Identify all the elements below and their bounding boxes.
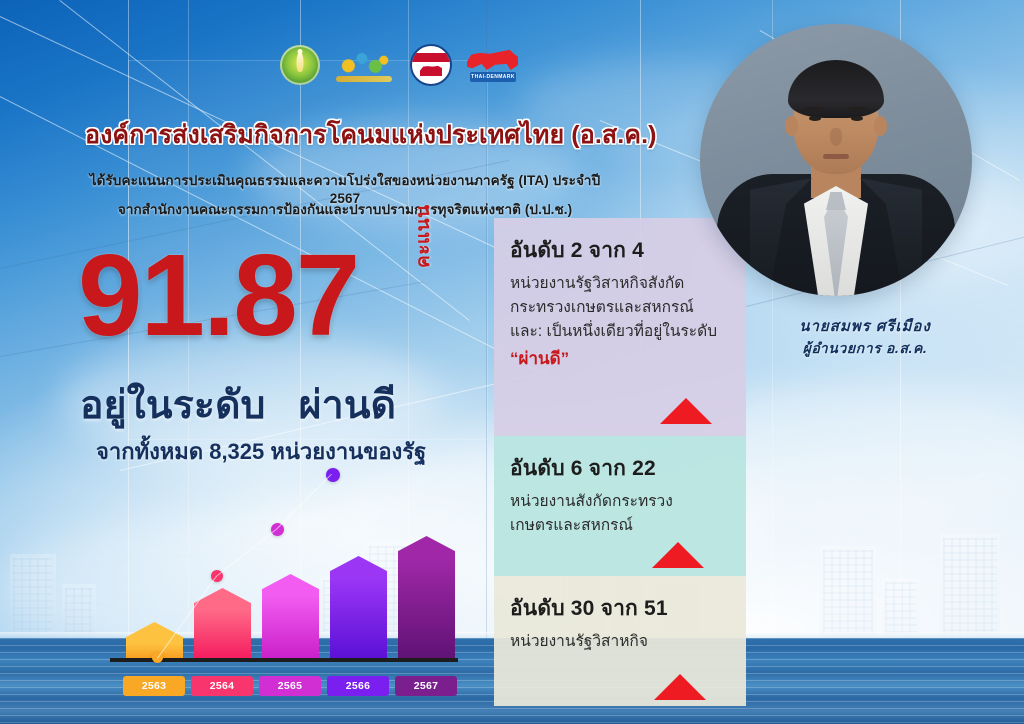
rank-card-list: อันดับ 2 จาก 4 หน่วยงานรัฐวิสาหกิจสังกัด… — [494, 218, 746, 706]
growth-bar-chart: 25632564256525662567 — [120, 466, 480, 706]
rank-card-all-state-enterprises[interactable]: อันดับ 30 จาก 51 หน่วยงานรัฐวิสาหกิจ — [494, 576, 746, 706]
logo-row: THAI-DENMARK — [280, 44, 518, 86]
infographic-canvas: THAI-DENMARK องค์การส่งเสริมกิจการโคนมแห… — [0, 0, 1024, 724]
page-title: องค์การส่งเสริมกิจการโคนมแห่งประเทศไทย (… — [85, 122, 665, 150]
red-up-triangle-icon — [660, 398, 712, 424]
chart-bar-body — [194, 610, 251, 660]
dpo-seal-icon — [410, 44, 452, 86]
chart-bar-body — [398, 558, 455, 660]
rank-card-quote: “ผ่านดี” — [510, 345, 732, 372]
rank-card-emphasis-text: เป็นหนึ่งเดียวที่อยู่ในระดับ — [546, 323, 717, 340]
level-prefix: อยู่ในระดับ — [80, 384, 266, 427]
chart-bars — [120, 464, 480, 660]
chart-year-labels: 25632564256525662567 — [120, 674, 480, 696]
trend-dot — [271, 523, 284, 536]
rank-card-emphasis-prefix: และ: — [510, 323, 542, 340]
rank-card-state-enterprise-moac[interactable]: อันดับ 2 จาก 4 หน่วยงานรัฐวิสาหกิจสังกัด… — [494, 218, 746, 436]
rank-card-heading: อันดับ 30 จาก 51 — [510, 592, 732, 625]
level-value: ผ่านดี — [299, 384, 397, 427]
chart-bar-body — [262, 596, 319, 660]
rank-card-heading: อันดับ 6 จาก 22 — [510, 452, 732, 485]
rank-card-line: เกษตรและสหกรณ์ — [510, 514, 732, 538]
chart-year-label: 2563 — [123, 676, 185, 696]
rank-card-line: หน่วยงานรัฐวิสาหกิจ — [510, 630, 732, 654]
director-portrait-avatar — [700, 24, 972, 296]
portrait-caption: นายสมพร ศรีเมือง ผู้อำนวยการ อ.ส.ค. — [760, 316, 970, 358]
chart-year-label: 2564 — [191, 676, 253, 696]
level-line: อยู่ในระดับ ผ่านดี — [80, 374, 500, 436]
rank-card-line: กระทรวงเกษตรและสหกรณ์ — [510, 296, 732, 320]
ministry-of-agriculture-emblem-icon — [280, 45, 320, 85]
rank-card-heading: อันดับ 2 จาก 4 — [510, 234, 732, 267]
rank-card-moac-agencies[interactable]: อันดับ 6 จาก 22 หน่วยงานสังกัดกระทรวง เก… — [494, 436, 746, 576]
chart-year-label: 2565 — [259, 676, 321, 696]
chart-bar-body — [330, 578, 387, 660]
chart-bar — [398, 536, 455, 660]
rank-card-line: หน่วยงานรัฐวิสาหกิจสังกัด — [510, 272, 732, 296]
rank-card-line: หน่วยงานสังกัดกระทรวง — [510, 490, 732, 514]
red-up-triangle-icon — [654, 674, 706, 700]
chart-bar — [262, 574, 319, 660]
chart-year-label: 2566 — [327, 676, 389, 696]
red-up-triangle-icon — [652, 542, 704, 568]
chart-bar — [330, 556, 387, 660]
person-name: นายสมพร ศรีเมือง — [760, 316, 970, 338]
rank-card-emphasis-row: และ: เป็นหนึ่งเดียวที่อยู่ในระดับ — [510, 320, 732, 344]
chart-year-label: 2567 — [395, 676, 457, 696]
person-position: ผู้อำนวยการ อ.ส.ค. — [760, 338, 970, 358]
thai-denmark-logo-icon: THAI-DENMARK — [466, 48, 518, 82]
subtitle-line-2: จากสำนักงานคณะกรรมการป้องกันและปราบปรามก… — [85, 198, 605, 220]
thai-denmark-wordmark: THAI-DENMARK — [470, 72, 516, 82]
anniversary-emblem-icon — [334, 45, 396, 85]
score-unit-label: คะแนน — [408, 204, 438, 268]
chart-bar — [194, 588, 251, 660]
